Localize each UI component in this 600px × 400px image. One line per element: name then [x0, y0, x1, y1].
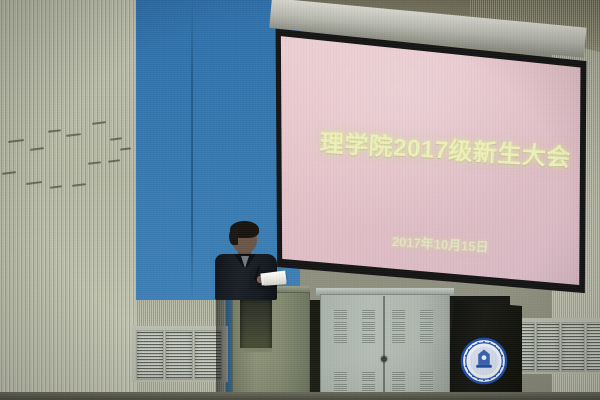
louvre-vent — [536, 322, 560, 372]
louvre-vent — [136, 330, 164, 380]
left-wall-marks — [0, 0, 136, 400]
stage-floor — [0, 392, 600, 400]
slide-title: 理学院2017级新生大会 — [319, 123, 561, 172]
louvre-vent — [586, 322, 600, 372]
lectern-shelf-lip — [240, 348, 272, 352]
cabinet-door-seam — [383, 296, 385, 400]
speech-papers-second-sheet — [264, 275, 287, 286]
projection-screen: 理学院2017级新生大会 2017年10月15日 — [268, 0, 588, 300]
blue-wall-seam — [191, 0, 193, 300]
cabinet-lock-icon — [381, 356, 387, 362]
auditorium-photo: 理学院2017级新生大会 2017年10月15日 — [0, 0, 600, 400]
louvre-vent — [561, 322, 585, 372]
university-seal-icon — [460, 337, 508, 385]
louvre-vent — [165, 330, 193, 380]
slide-date: 2017年10月15日 — [391, 231, 592, 262]
lectern-shelf-recess — [240, 299, 272, 351]
speaker-hair-side — [229, 228, 238, 245]
